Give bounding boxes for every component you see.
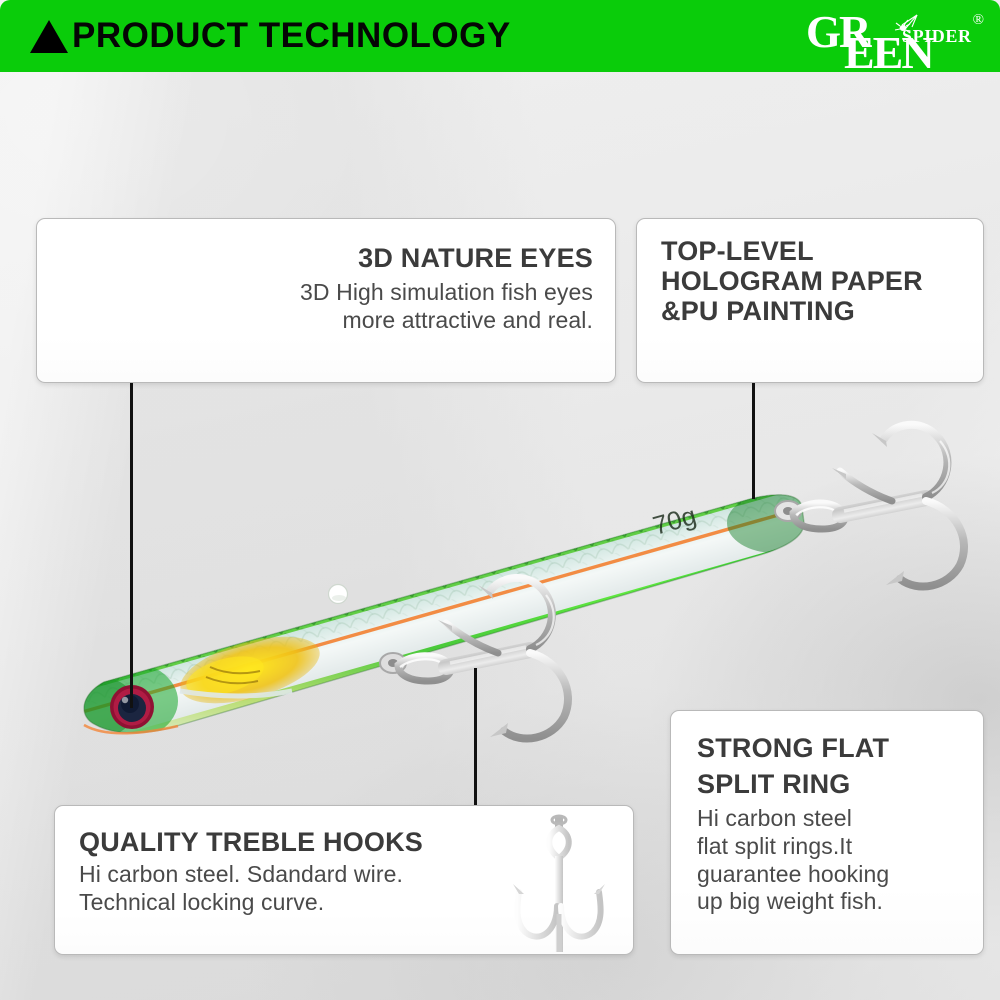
callout-body-line-3: guarantee hooking — [697, 861, 983, 889]
triangle-up-icon — [30, 20, 68, 53]
callout-body-line-1: Hi carbon steel — [697, 805, 983, 833]
leader-line-hologram-paper — [752, 383, 755, 499]
spider-on-web-icon — [894, 14, 920, 36]
leader-line-nature-eyes — [130, 383, 133, 708]
brand-logo: GR EEN SPIDER ® — [806, 8, 986, 66]
callout-title: 3D NATURE EYES — [37, 243, 593, 273]
callout-treble-hooks: QUALITY TREBLE HOOKS Hi carbon steel. Sd… — [54, 805, 634, 955]
page-background: PRODUCT TECHNOLOGY GR EEN SPIDER ® — [0, 0, 1000, 1000]
tail-treble-hook — [832, 425, 964, 587]
callout-body-line-1: 3D High simulation fish eyes — [37, 279, 593, 307]
callout-title-line-2: SPLIT RING — [697, 769, 983, 799]
callout-body-line-4: up big weight fish. — [697, 888, 983, 916]
treble-hook-icon — [499, 814, 619, 954]
page-header: PRODUCT TECHNOLOGY GR EEN SPIDER ® — [0, 0, 1000, 72]
callout-body-line-2: flat split rings.It — [697, 833, 983, 861]
callout-title-line-1: STRONG FLAT — [697, 733, 983, 763]
page-title: PRODUCT TECHNOLOGY — [72, 16, 511, 56]
callout-split-ring: STRONG FLAT SPLIT RING Hi carbon steel f… — [670, 710, 984, 955]
callout-title-line-3: &PU PAINTING — [661, 296, 983, 326]
callout-hologram-paper: TOP-LEVEL HOLOGRAM PAPER &PU PAINTING — [636, 218, 984, 383]
callout-title-line-2: HOLOGRAM PAPER — [661, 266, 983, 296]
callout-nature-eyes: 3D NATURE EYES 3D High simulation fish e… — [36, 218, 616, 383]
leader-line-treble-hooks — [474, 668, 477, 808]
callout-title-line-1: TOP-LEVEL — [661, 236, 983, 266]
registered-mark-icon: ® — [973, 12, 984, 29]
callout-body-line-2: more attractive and real. — [37, 307, 593, 335]
